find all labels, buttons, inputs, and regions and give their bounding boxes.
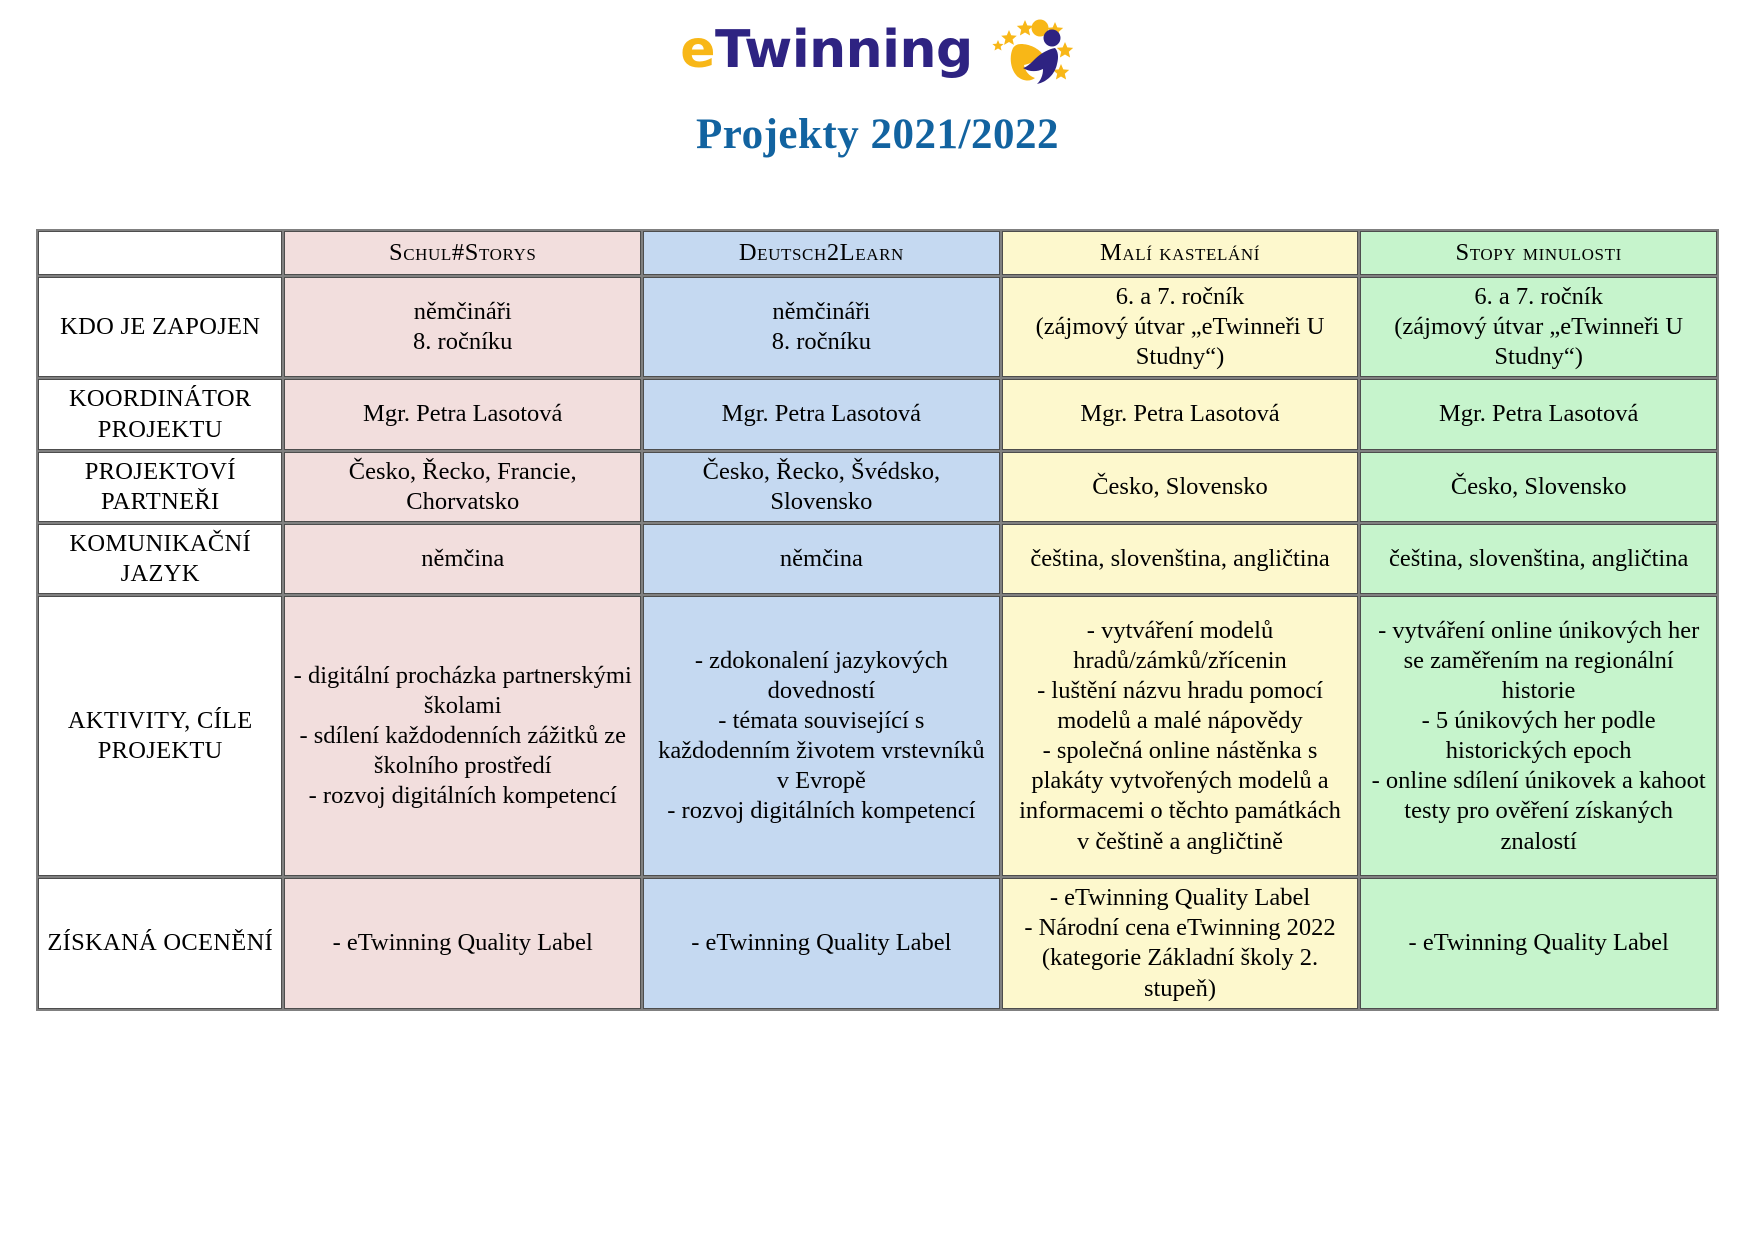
cell-partneri-schul: Česko, Řecko, Francie, Chorvatsko: [284, 452, 641, 522]
cell-koordinator-schul: Mgr. Petra Lasotová: [284, 379, 641, 449]
cell-jazyk-kastelani: čeština, slovenština, angličtina: [1002, 524, 1359, 594]
column-header-schul: Schul#Storys: [284, 231, 641, 275]
cell-oceneni-stopy: - eTwinning Quality Label: [1360, 878, 1717, 1009]
cell-koordinator-stopy: Mgr. Petra Lasotová: [1360, 379, 1717, 449]
table-row-projektovi-partneri: Projektoví partneři Česko, Řecko, Franci…: [38, 452, 1717, 522]
cell-aktivity-kastelani: - vytváření modelů hradů/zámků/zřícenin …: [1002, 596, 1359, 876]
cell-partneri-kastelani: Česko, Slovensko: [1002, 452, 1359, 522]
cell-kdo-je-zapojen-deutsch: němčináři 8. ročníku: [643, 277, 1000, 377]
etwinning-wordmark: eTwinning: [680, 24, 973, 76]
table-row-kdo-je-zapojen: Kdo je zapojen němčináři 8. ročníku němč…: [38, 277, 1717, 377]
column-header-deutsch: Deutsch2Learn: [643, 231, 1000, 275]
cell-aktivity-schul: - digitální procházka partnerskými škola…: [284, 596, 641, 876]
cell-koordinator-deutsch: Mgr. Petra Lasotová: [643, 379, 1000, 449]
cell-oceneni-schul: - eTwinning Quality Label: [284, 878, 641, 1009]
cell-aktivity-deutsch: - zdokonalení jazykových dovedností - té…: [643, 596, 1000, 876]
cell-aktivity-stopy: - vytváření online únikových her se zamě…: [1360, 596, 1717, 876]
table-row-koordinator-projektu: Koordinátor projektu Mgr. Petra Lasotová…: [38, 379, 1717, 449]
row-label-ziskana-oceneni: Získaná ocenění: [38, 878, 282, 1009]
logo-bar: eTwinning: [0, 0, 1755, 78]
row-label-kdo-je-zapojen: Kdo je zapojen: [38, 277, 282, 377]
page-title: Projekty 2021/2022: [0, 110, 1755, 159]
table-row-komunikacni-jazyk: Komunikační jazyk němčina němčina češtin…: [38, 524, 1717, 594]
table-corner-cell: [38, 231, 282, 275]
cell-kdo-je-zapojen-kastelani: 6. a 7. ročník (zájmový útvar „eTwinneři…: [1002, 277, 1359, 377]
column-header-kastelani: Malí kastelání: [1002, 231, 1359, 275]
cell-partneri-stopy: Česko, Slovensko: [1360, 452, 1717, 522]
cell-kdo-je-zapojen-stopy: 6. a 7. ročník (zájmový útvar „eTwinneři…: [1360, 277, 1717, 377]
projects-table: Schul#Storys Deutsch2Learn Malí kastelán…: [36, 229, 1719, 1011]
row-label-koordinator-projektu: Koordinátor projektu: [38, 379, 282, 449]
cell-jazyk-stopy: čeština, slovenština, angličtina: [1360, 524, 1717, 594]
row-label-komunikacni-jazyk: Komunikační jazyk: [38, 524, 282, 594]
cell-oceneni-deutsch: - eTwinning Quality Label: [643, 878, 1000, 1009]
projects-table-wrapper: Schul#Storys Deutsch2Learn Malí kastelán…: [0, 229, 1755, 1011]
table-row-ziskana-oceneni: Získaná ocenění - eTwinning Quality Labe…: [38, 878, 1717, 1009]
row-label-aktivity-cile-projektu: Aktivity, cíle projektu: [38, 596, 282, 876]
cell-koordinator-kastelani: Mgr. Petra Lasotová: [1002, 379, 1359, 449]
table-header-row: Schul#Storys Deutsch2Learn Malí kastelán…: [38, 231, 1717, 275]
row-label-projektovi-partneri: Projektoví partneři: [38, 452, 282, 522]
logo-letter-e: e: [680, 20, 715, 80]
table-row-aktivity-cile-projektu: Aktivity, cíle projektu - digitální proc…: [38, 596, 1717, 876]
column-header-stopy: Stopy minulosti: [1360, 231, 1717, 275]
logo-word-twinning: Twinning: [715, 20, 973, 80]
cell-jazyk-deutsch: němčina: [643, 524, 1000, 594]
cell-jazyk-schul: němčina: [284, 524, 641, 594]
cell-partneri-deutsch: Česko, Řecko, Švédsko, Slovensko: [643, 452, 1000, 522]
cell-kdo-je-zapojen-schul: němčináři 8. ročníku: [284, 277, 641, 377]
etwinning-figures-stars-icon: [989, 16, 1075, 84]
cell-oceneni-kastelani: - eTwinning Quality Label - Národní cena…: [1002, 878, 1359, 1009]
